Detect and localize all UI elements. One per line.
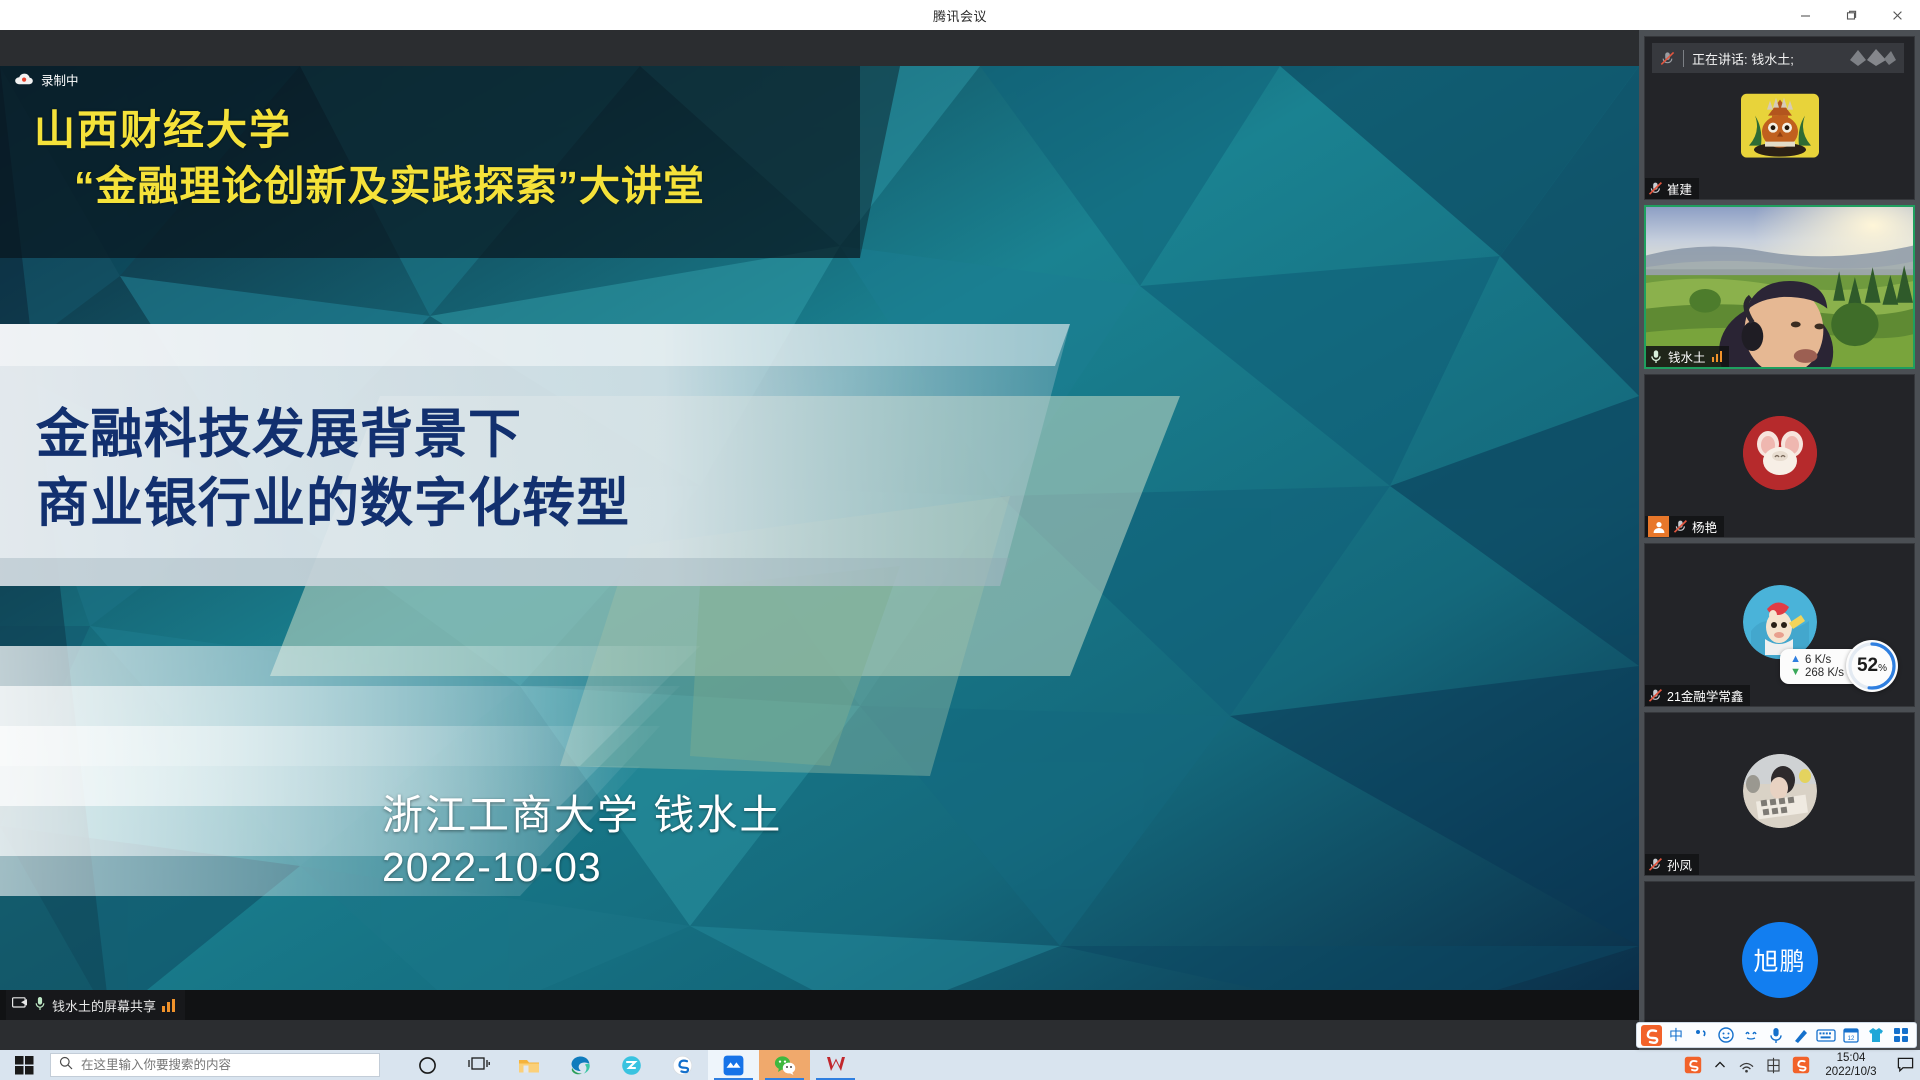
download-speed-value: 268 K/s: [1805, 667, 1844, 679]
recording-bar: [0, 30, 1639, 66]
participant-tile[interactable]: 钱水土: [1644, 205, 1915, 369]
microsoft-edge-icon[interactable]: [555, 1050, 606, 1080]
avatar: [1743, 754, 1817, 828]
cpu-usage-gauge: 52%: [1846, 640, 1898, 692]
action-center-icon[interactable]: [1890, 1050, 1920, 1080]
share-status-pill: 钱水土的屏幕共享: [6, 990, 185, 1020]
share-status-bar: 钱水土的屏幕共享: [0, 990, 1639, 1020]
wechat-icon[interactable]: [759, 1050, 810, 1080]
participant-name-tag: 钱水土: [1646, 346, 1729, 367]
audio-wave-icon: [1848, 46, 1896, 71]
upload-speed-row: ▲ 6 K/s: [1790, 654, 1844, 666]
screen: 腾讯会议: [0, 0, 1920, 1080]
participant-name: 钱水土: [1668, 347, 1706, 366]
participant-name: 孙凤: [1667, 855, 1692, 874]
show-hidden-icons-icon[interactable]: [1706, 1050, 1733, 1080]
participant-tile[interactable]: 正在讲话: 钱水土;: [1644, 36, 1915, 200]
ime-chinese-icon[interactable]: [1760, 1050, 1787, 1080]
slide-header-line1: 山西财经大学: [34, 106, 705, 154]
sogou-pinyin-tray-icon[interactable]: [1679, 1050, 1706, 1080]
ime-chinese-mode-label[interactable]: 中: [1664, 1023, 1688, 1047]
mic-muted-icon: [1648, 181, 1663, 196]
ime-expression-icon[interactable]: [1739, 1023, 1763, 1047]
system-tray[interactable]: 15:04 2022/10/3: [1679, 1050, 1920, 1080]
participant-name: 崔建: [1667, 179, 1692, 198]
ime-emoji-icon[interactable]: [1714, 1023, 1738, 1047]
tencent-meeting-icon[interactable]: [708, 1050, 759, 1080]
avatar-initials: 旭鹏: [1753, 942, 1805, 978]
audio-level-icon: [1712, 351, 1723, 362]
ime-calendar-icon[interactable]: 12: [1839, 1023, 1863, 1047]
download-speed-row: ▼ 268 K/s: [1790, 667, 1844, 679]
mic-muted-icon: [1673, 519, 1688, 534]
participant-name: 21金融学常鑫: [1667, 686, 1743, 705]
mic-muted-icon: [1660, 51, 1675, 66]
presentation-slide: 山西财经大学 “金融理论创新及实践探索”大讲堂 金融科技发展背景下 商业银行业的…: [0, 66, 1639, 1020]
upload-speed-value: 6 K/s: [1805, 654, 1831, 666]
mic-muted-icon: [1648, 857, 1663, 872]
share-status-label: 钱水土的屏幕共享: [52, 996, 156, 1015]
banner-divider: [1683, 50, 1684, 67]
browser-2345-icon[interactable]: [606, 1050, 657, 1080]
active-speaker-label: 正在讲话: 钱水土;: [1692, 49, 1794, 68]
taskbar-search-box[interactable]: [50, 1053, 380, 1077]
window-controls: [1782, 0, 1920, 30]
slide-title-line2: 商业银行业的数字化转型: [36, 470, 630, 539]
slide-author: 浙江工商大学 钱水土: [382, 792, 782, 840]
ime-voice-input-icon[interactable]: [1764, 1023, 1788, 1047]
ime-skin-icon[interactable]: [1864, 1023, 1888, 1047]
host-badge: [1648, 516, 1669, 537]
search-input[interactable]: [81, 1058, 371, 1072]
ime-toolbox-icon[interactable]: [1889, 1023, 1913, 1047]
gauge-percent: 52: [1857, 655, 1878, 676]
participant-name-tag: 崔建: [1645, 178, 1699, 199]
slide-title-line1: 金融科技发展背景下: [36, 401, 630, 470]
microphone-icon: [1649, 349, 1664, 364]
participant-name-tag: 杨艳: [1645, 516, 1724, 537]
participant-name-tag: 孙凤: [1645, 854, 1699, 875]
task-view-icon[interactable]: [453, 1050, 504, 1080]
file-explorer-icon[interactable]: [504, 1050, 555, 1080]
avatar: [1743, 416, 1817, 490]
audio-level-icon: [162, 999, 175, 1012]
cloud-record-icon: [14, 72, 34, 86]
participants-sidebar[interactable]: 正在讲话: 钱水土;: [1639, 30, 1920, 1050]
taskbar-icon-strip[interactable]: [402, 1050, 861, 1080]
avatar: 旭鹏: [1742, 922, 1818, 998]
active-speaker-banner: 正在讲话: 钱水土;: [1652, 43, 1904, 73]
slide-author-block: 浙江工商大学 钱水土 2022-10-03: [382, 792, 782, 891]
screen-share-icon: [12, 997, 28, 1013]
restore-button[interactable]: [1828, 0, 1874, 30]
network-icon[interactable]: [1733, 1050, 1760, 1080]
avatar: [1741, 94, 1819, 158]
windows-taskbar[interactable]: 15:04 2022/10/3: [0, 1050, 1920, 1080]
search-icon: [59, 1056, 73, 1075]
participant-tile[interactable]: 旭鹏 21金融学薛旭鹏: [1644, 881, 1915, 1045]
participant-name-tag: 21金融学常鑫: [1645, 685, 1750, 706]
window-title-bar: 腾讯会议: [0, 0, 1920, 30]
sogou-browser-icon[interactable]: [657, 1050, 708, 1080]
windows-start-icon[interactable]: [0, 1050, 48, 1080]
microphone-icon: [34, 996, 46, 1014]
meeting-window-body: 录制中: [0, 30, 1920, 1050]
participant-tile[interactable]: ▲ 6 K/s ▼ 268 K/s: [1644, 543, 1915, 707]
clock-time: 15:04: [1814, 1051, 1888, 1065]
ime-handwriting-icon[interactable]: [1789, 1023, 1813, 1047]
gauge-unit: %: [1878, 663, 1887, 674]
participant-tile[interactable]: 孙凤: [1644, 712, 1915, 876]
sogou-logo-icon[interactable]: [1640, 1024, 1663, 1047]
participant-video: [1646, 207, 1913, 367]
minimize-button[interactable]: [1782, 0, 1828, 30]
page-title: 金融科技发展背景下 商业银行业的数字化转型: [36, 401, 630, 539]
participant-tile[interactable]: 杨艳: [1644, 374, 1915, 538]
close-button[interactable]: [1874, 0, 1920, 30]
shared-screen-area: 录制中: [0, 30, 1639, 1020]
participant-name: 杨艳: [1692, 517, 1717, 536]
svg-text:12: 12: [1848, 1036, 1855, 1042]
ime-soft-keyboard-icon[interactable]: [1814, 1023, 1838, 1047]
gauge-value: 52%: [1857, 655, 1887, 677]
window-title: 腾讯会议: [0, 6, 1920, 25]
recording-label: 录制中: [41, 70, 79, 89]
sogou-input-icon[interactable]: [1787, 1050, 1814, 1080]
cortana-icon[interactable]: [402, 1050, 453, 1080]
recording-indicator: 录制中: [14, 68, 79, 90]
mic-muted-icon: [1648, 688, 1663, 703]
network-speed-widget[interactable]: ▲ 6 K/s ▼ 268 K/s: [1780, 640, 1898, 692]
taskbar-clock[interactable]: 15:04 2022/10/3: [1814, 1051, 1890, 1080]
slide-header: 山西财经大学 “金融理论创新及实践探索”大讲堂: [34, 106, 705, 211]
ime-punctuation-icon[interactable]: [1689, 1023, 1713, 1047]
arrow-up-icon: ▲: [1790, 654, 1801, 665]
wps-office-icon[interactable]: [810, 1050, 861, 1080]
slide-date: 2022-10-03: [382, 844, 782, 892]
sogou-ime-toolbar[interactable]: 中 12: [1636, 1022, 1917, 1048]
slide-header-line2: “金融理论创新及实践探索”大讲堂: [74, 162, 705, 210]
clock-date: 2022/10/3: [1814, 1065, 1888, 1079]
arrow-down-icon: ▼: [1790, 667, 1801, 678]
